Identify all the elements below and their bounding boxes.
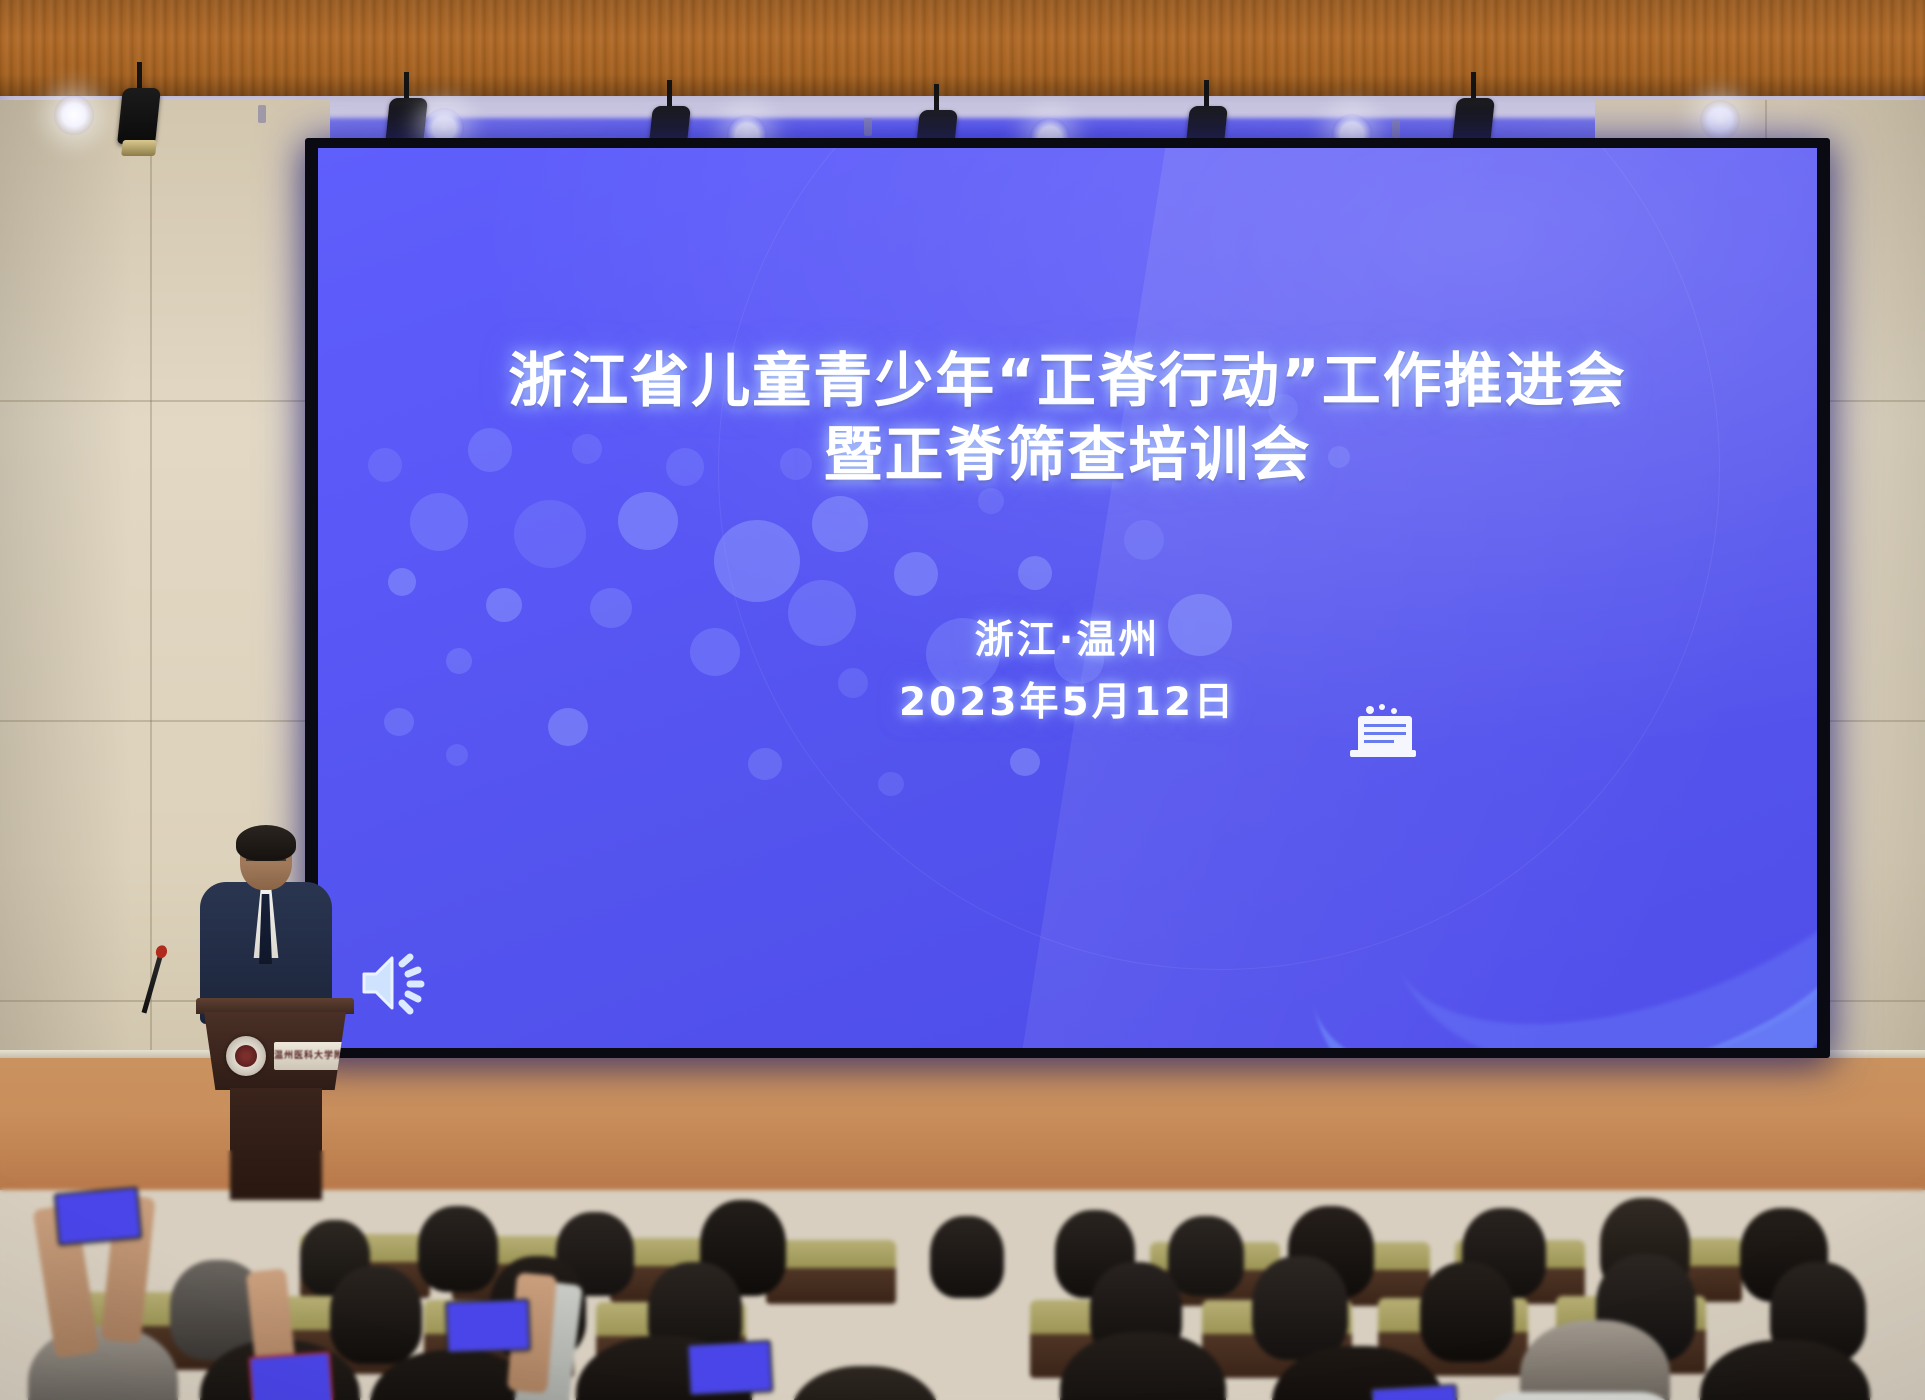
audience-phone[interactable] (54, 1186, 142, 1245)
scene-root: 浙江省儿童青少年“正脊行动”工作推进会 暨正脊筛查培训会 浙江·温州 2023年… (0, 0, 1925, 1400)
wooden-ceiling (0, 0, 1925, 108)
slide-subtitle-block: 浙江·温州 2023年5月12日 (318, 610, 1817, 734)
slide-title-line-1: 浙江省儿童青少年“正脊行动”工作推进会 (318, 344, 1817, 418)
ceiling-sensor-1 (258, 105, 266, 123)
podium-plate: 温州医科大学附属 (274, 1042, 346, 1070)
audience-head (1252, 1256, 1348, 1360)
slide-date: 2023年5月12日 (318, 672, 1817, 734)
audience-head (790, 1366, 940, 1400)
ceiling-sensor-3 (1392, 120, 1400, 138)
podium-plate-text: 温州医科大学附属 (274, 1042, 346, 1070)
audience-head (930, 1216, 1004, 1298)
presenter (186, 830, 346, 1020)
audience-head (1420, 1262, 1514, 1362)
audience-body (1474, 1392, 1684, 1400)
audience-head (330, 1266, 422, 1364)
audience-head (418, 1206, 498, 1292)
audience-head (1168, 1216, 1244, 1296)
downlight-6 (1700, 100, 1740, 140)
audience-phone[interactable] (445, 1299, 531, 1354)
speaker-icon (358, 948, 432, 1018)
audience-phone[interactable] (248, 1351, 333, 1400)
ceiling-sensor-2 (864, 118, 872, 136)
spotlight-1 (118, 62, 160, 166)
university-seal-emblem (226, 1036, 266, 1076)
slide-title-block: 浙江省儿童青少年“正脊行动”工作推进会 暨正脊筛查培训会 (318, 344, 1817, 492)
audience-area (0, 1150, 1925, 1400)
slide-location: 浙江·温州 (318, 610, 1817, 672)
slide-title-line-2: 暨正脊筛查培训会 (318, 418, 1817, 492)
audience-phone[interactable] (687, 1340, 774, 1396)
led-screen: 浙江省儿童青少年“正脊行动”工作推进会 暨正脊筛查培训会 浙江·温州 2023年… (318, 148, 1817, 1048)
downlight-1 (54, 95, 94, 135)
led-screen-frame: 浙江省儿童青少年“正脊行动”工作推进会 暨正脊筛查培训会 浙江·温州 2023年… (305, 138, 1830, 1058)
